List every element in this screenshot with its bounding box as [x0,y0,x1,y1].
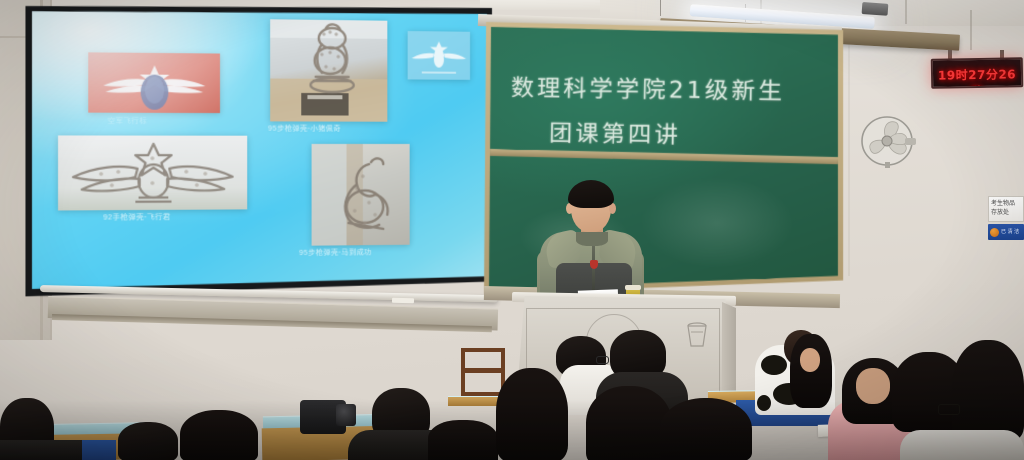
led-clock-text: 19时27分26秒 [933,65,1022,89]
student-hair-long-3 [496,368,568,460]
blackboard-middle-divider [489,149,838,164]
light-wire-2 [660,0,661,16]
wall-seam-3 [970,10,972,50]
wall-seam-4 [848,26,850,276]
slide-image-1 [270,19,387,121]
projected-slide: 空军飞行标 [32,8,487,289]
slide-image-0 [88,52,220,113]
blue-plate-sign: 已 清 洁 [988,224,1024,240]
slide-caption-3: 95步枪弹壳-马到成功 [299,247,371,258]
student-face-pink [856,368,890,404]
student-body-front-1 [0,440,82,460]
blackboard-title-line-1: 数理科学学院21级新生 [511,68,786,106]
classroom-scene: 空军飞行标 [0,0,1024,460]
student-head-front-4 [118,422,178,460]
slide-caption-2: 92手枪弹壳-飞行君 [103,212,170,223]
presenter-jacket-logo-icon [590,260,598,269]
cow-spot-5 [757,395,771,411]
chair-rail-1 [461,368,505,373]
fan-icon[interactable] [861,116,917,168]
drink-cup-lid [625,285,641,290]
glasses-icon-2 [938,404,960,415]
wall-seam-2 [905,0,907,24]
student-hair-long-5 [660,398,752,460]
notice-sign: 考生物品 存放处 [988,196,1024,222]
student-face-cow-print [800,348,820,372]
chalk-smudge-1 [640,177,794,269]
slide-image-2 [58,135,247,210]
presenter-collar [576,232,608,246]
blackboard-title-line-2: 团课第四讲 [549,114,681,150]
notice-sign-line-2: 存放处 [991,208,1021,217]
blue-plate-text: 已 清 洁 [1001,229,1019,235]
chalk-piece[interactable] [392,298,414,304]
led-clock-display: 19时27分26秒 [931,57,1024,89]
podium-logo-icon [684,318,710,348]
light-end-cap [862,2,889,16]
camera-lens-icon [336,404,356,426]
slide-caption-1: 95步枪弹壳-小猪佩奇 [268,123,341,133]
projection-screen[interactable]: 空军飞行标 [25,2,492,297]
student-hair-long-2 [428,420,498,460]
cow-spot-1 [761,355,787,375]
student-hair-long-9 [180,410,258,460]
blue-plate-logo-icon [990,228,999,237]
student-body-front-3 [900,430,1024,460]
slide-watermark-image [408,31,470,80]
notice-sign-line-1: 考生物品 [991,199,1021,208]
slide-caption-0: 空军飞行标 [108,116,148,126]
glasses-icon-1 [596,356,609,364]
student-hair-long-8 [952,340,1024,440]
podium-side-panel [722,300,736,400]
slide-image-3 [312,144,410,246]
